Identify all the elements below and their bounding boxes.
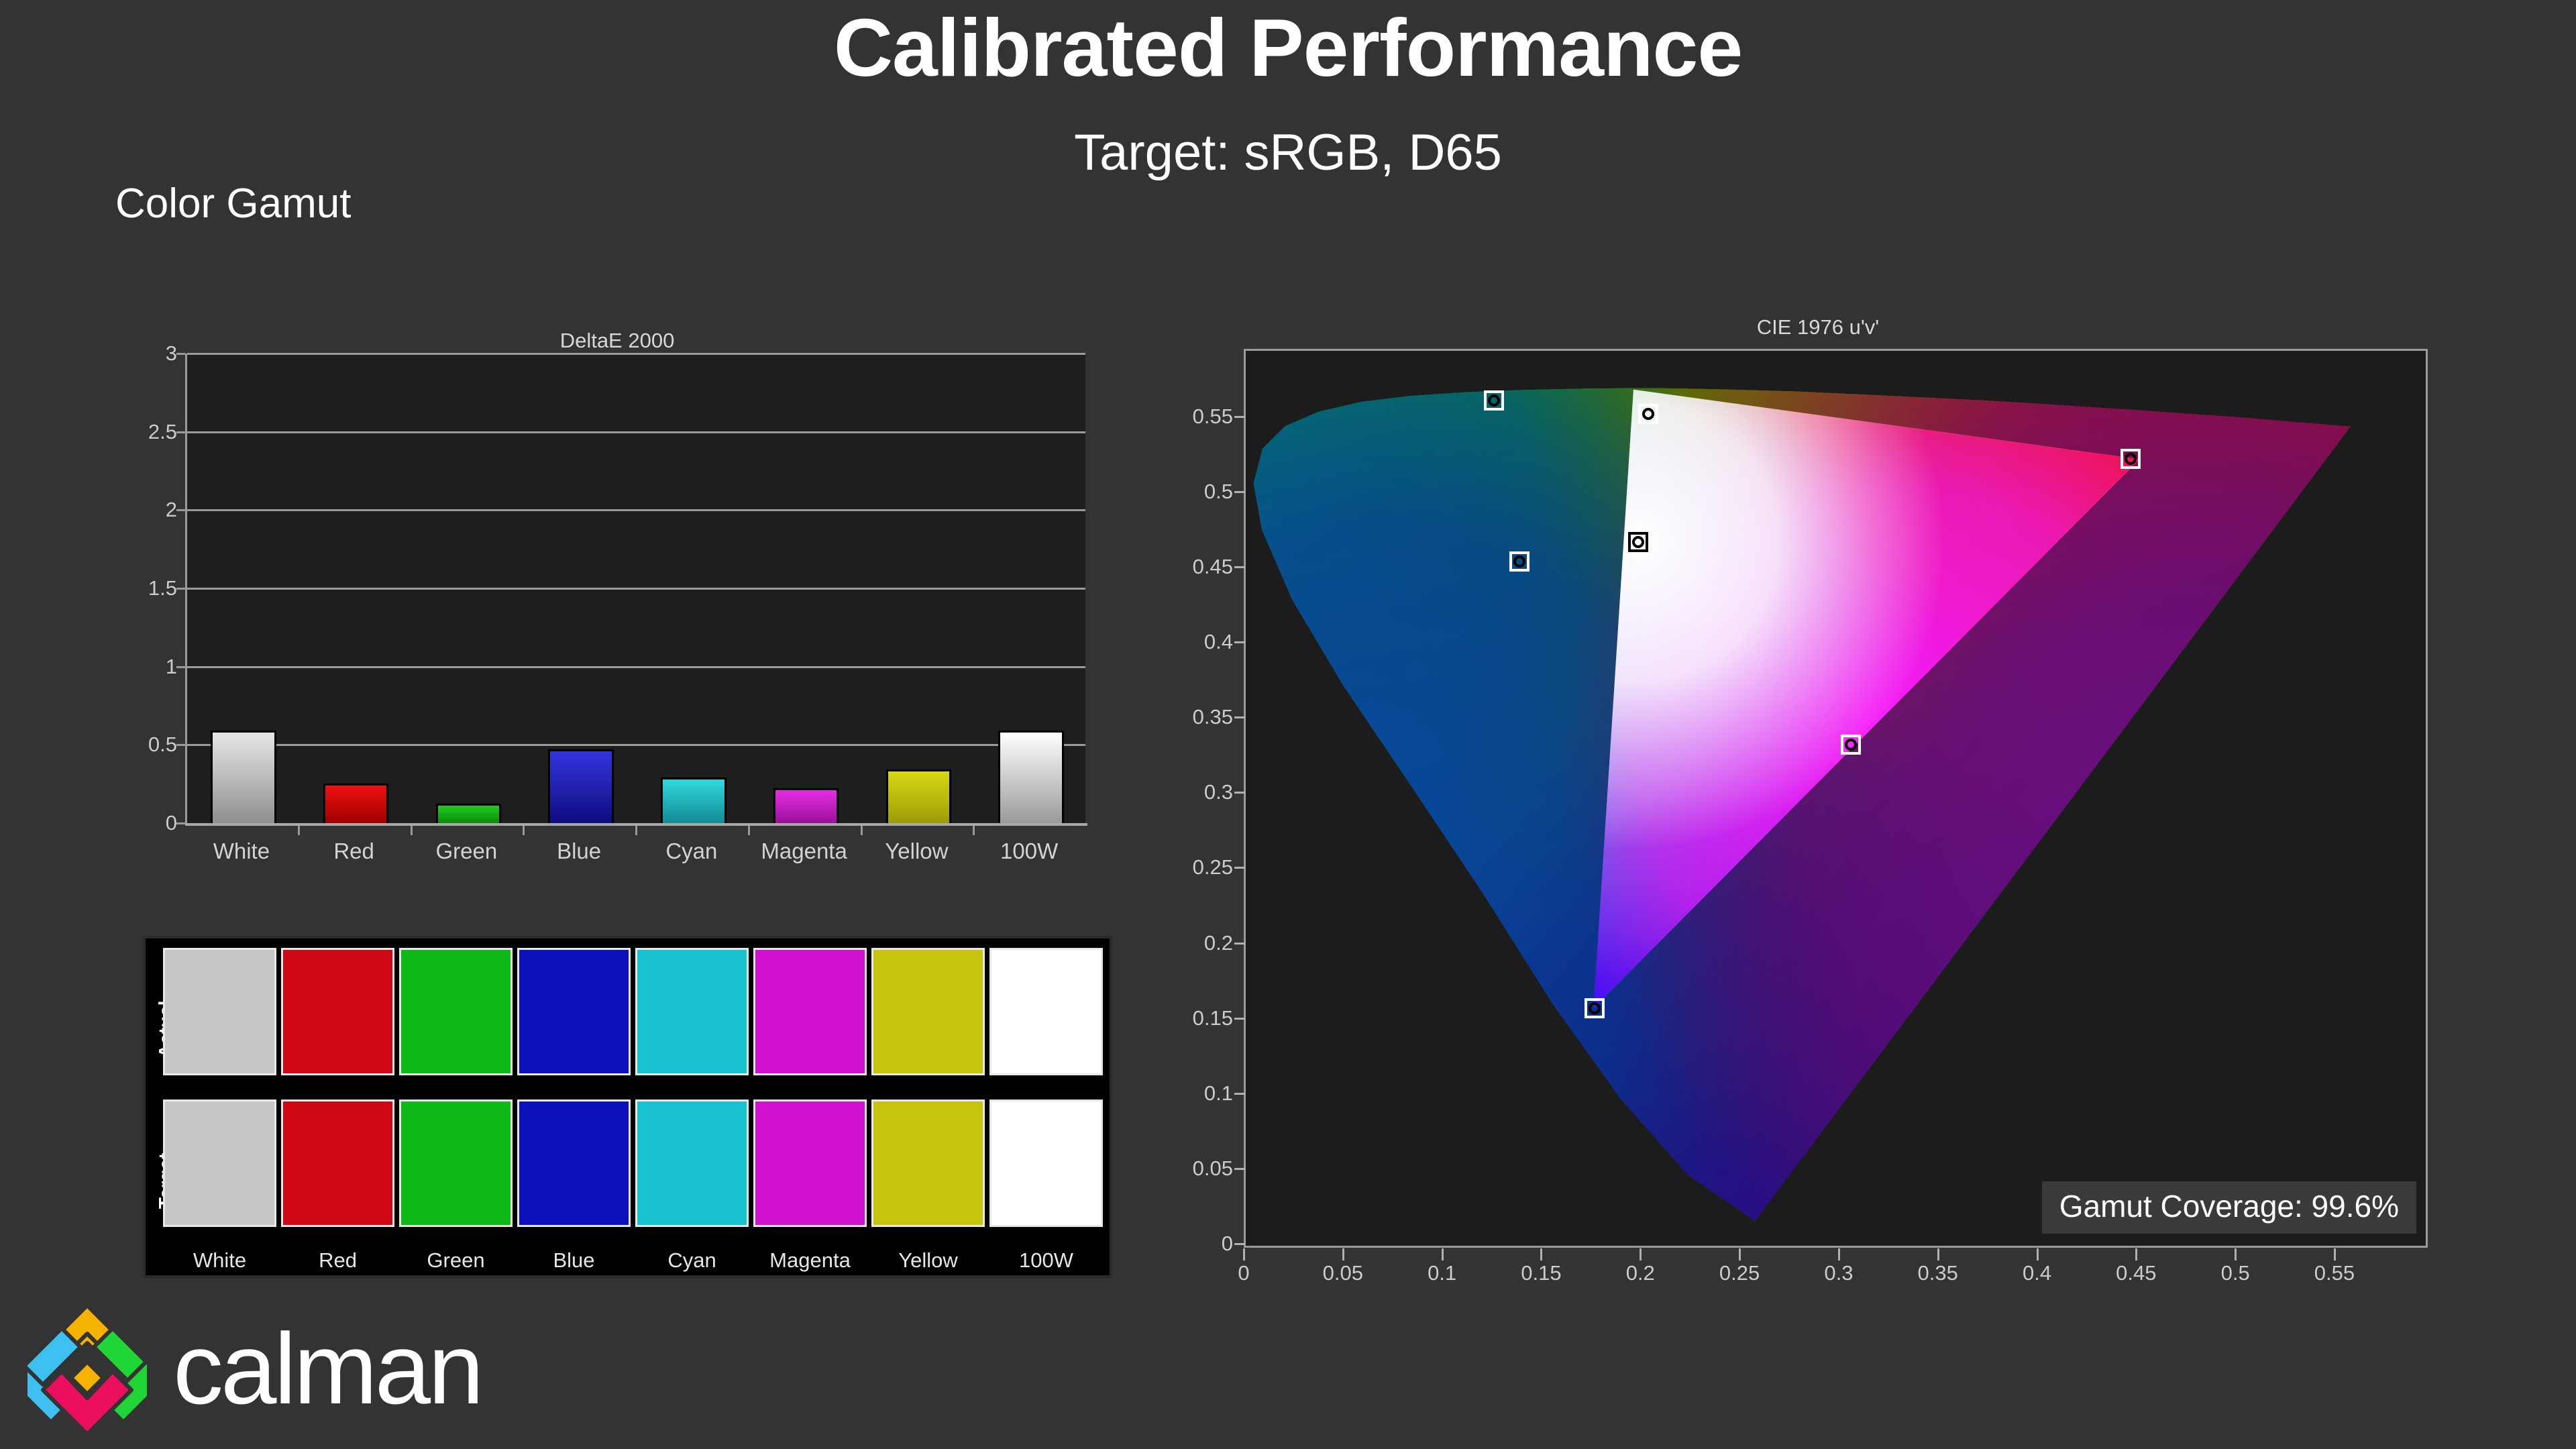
deltae-y-tick-label: 2 bbox=[134, 498, 177, 522]
cie-x-tick-label: 0.4 bbox=[2023, 1261, 2051, 1285]
cie-y-tick-label: 0.3 bbox=[1181, 780, 1233, 804]
swatch-actual bbox=[281, 948, 394, 1075]
swatch-actual bbox=[753, 948, 867, 1075]
swatch-column-label: Magenta bbox=[769, 1248, 851, 1273]
deltae-bar bbox=[998, 731, 1063, 823]
cie-marker-magenta bbox=[1841, 735, 1861, 755]
cie-y-tick-label: 0.35 bbox=[1181, 705, 1233, 729]
swatch-actual bbox=[163, 948, 276, 1075]
cie-y-tick-mark bbox=[1234, 716, 1245, 718]
deltae-x-tick-mark bbox=[861, 826, 863, 835]
cie-marker-yellow bbox=[1638, 404, 1658, 424]
cie-x-tick-label: 0.1 bbox=[1428, 1261, 1456, 1285]
gamut-coverage-badge: Gamut Coverage: 99.6% bbox=[2042, 1181, 2416, 1234]
deltae-x-tick-mark bbox=[635, 826, 637, 835]
cie-y-tick-mark bbox=[1234, 943, 1245, 945]
cie-x-tick-mark bbox=[2135, 1248, 2137, 1260]
swatch-column-label: Blue bbox=[553, 1248, 594, 1273]
cie-x-tick-mark bbox=[2334, 1248, 2336, 1260]
cie-y-tick-mark bbox=[1234, 867, 1245, 869]
swatch-target bbox=[989, 1099, 1103, 1227]
deltae-gridline bbox=[187, 744, 1085, 746]
deltae-bar bbox=[773, 788, 839, 823]
cie-y-tick-label: 0.15 bbox=[1181, 1006, 1233, 1030]
cie-y-tick-label: 0 bbox=[1181, 1232, 1233, 1256]
deltae-x-tick-mark bbox=[973, 826, 975, 835]
cie-y-tick-mark bbox=[1234, 792, 1245, 794]
cie-plot-area: Gamut Coverage: 99.6% bbox=[1244, 349, 2428, 1248]
deltae-plot-area bbox=[185, 354, 1085, 823]
deltae-bar bbox=[436, 804, 501, 823]
deltae-gridline bbox=[187, 588, 1085, 590]
cie-marker-ring bbox=[1513, 555, 1525, 568]
cie-x-tick-mark bbox=[1739, 1248, 1741, 1260]
deltae-bar bbox=[211, 731, 276, 823]
cie-chart-title: CIE 1976 u'v' bbox=[1181, 315, 2455, 339]
deltae-y-tick-label: 1.5 bbox=[134, 576, 177, 600]
cie-x-tick-label: 0.05 bbox=[1323, 1261, 1363, 1285]
calman-diamond-icon bbox=[20, 1301, 154, 1439]
swatch-column-label: White bbox=[193, 1248, 246, 1273]
cie-gamut-render bbox=[1246, 351, 2426, 1246]
cie-x-tick-mark bbox=[1640, 1248, 1642, 1260]
cie-marker-red bbox=[2121, 449, 2141, 469]
deltae-x-category-label: Blue bbox=[557, 839, 601, 864]
deltae-x-category-label: 100W bbox=[1000, 839, 1058, 864]
deltae-y-tick-mark bbox=[176, 509, 185, 511]
cie-y-tick-mark bbox=[1234, 491, 1245, 493]
deltae-y-tick-label: 0 bbox=[134, 811, 177, 835]
swatch-target bbox=[635, 1099, 749, 1227]
deltae-x-category-label: Yellow bbox=[885, 839, 948, 864]
deltae-x-tick-mark bbox=[298, 826, 300, 835]
cie-marker-ring bbox=[1589, 1002, 1601, 1014]
deltae-bar bbox=[548, 749, 613, 823]
cie-marker-cyan bbox=[1509, 551, 1529, 572]
cie-x-tick-mark bbox=[1937, 1248, 1939, 1260]
cie-y-tick-label: 0.55 bbox=[1181, 405, 1233, 429]
cie-marker-blue bbox=[1585, 998, 1605, 1018]
swatch-column-label: Red bbox=[319, 1248, 357, 1273]
cie-x-tick-label: 0.3 bbox=[1824, 1261, 1853, 1285]
calman-wordmark: calman bbox=[173, 1311, 482, 1427]
deltae-gridline bbox=[187, 431, 1085, 433]
deltae-y-tick-mark bbox=[176, 588, 185, 590]
cie-y-tick-label: 0.25 bbox=[1181, 855, 1233, 879]
cie-y-tick-mark bbox=[1234, 641, 1245, 643]
deltae-gridline bbox=[187, 509, 1085, 511]
deltae-x-category-label: Magenta bbox=[761, 839, 847, 864]
swatch-target bbox=[399, 1099, 513, 1227]
cie-marker-ring bbox=[1845, 739, 1857, 751]
cie-x-tick-label: 0.15 bbox=[1521, 1261, 1561, 1285]
swatch-target bbox=[517, 1099, 631, 1227]
cie-x-tick-mark bbox=[1540, 1248, 1542, 1260]
swatch-actual bbox=[399, 948, 513, 1075]
cie-x-tick-label: 0.35 bbox=[1918, 1261, 1958, 1285]
report-page: Calibrated Performance Target: sRGB, D65… bbox=[0, 0, 2576, 1449]
cie-marker-ring bbox=[1632, 536, 1644, 548]
cie-x-tick-mark bbox=[1243, 1248, 1245, 1260]
cie-y-tick-label: 0.1 bbox=[1181, 1081, 1233, 1106]
cie-y-tick-label: 0.2 bbox=[1181, 931, 1233, 955]
swatch-actual bbox=[517, 948, 631, 1075]
cie-x-tick-mark bbox=[1838, 1248, 1840, 1260]
swatch-target bbox=[163, 1099, 276, 1227]
cie-y-tick-label: 0.45 bbox=[1181, 555, 1233, 579]
cie-y-tick-mark bbox=[1234, 416, 1245, 418]
cie-x-tick-label: 0 bbox=[1238, 1261, 1249, 1285]
cie-y-tick-mark bbox=[1234, 1168, 1245, 1170]
deltae-x-category-label: White bbox=[213, 839, 270, 864]
swatch-comparison-panel: ActualTargetWhiteRedGreenBlueCyanMagenta… bbox=[143, 936, 1112, 1278]
deltae-bar bbox=[661, 777, 726, 823]
cie-y-tick-label: 0.5 bbox=[1181, 480, 1233, 504]
cie-y-tick-mark bbox=[1234, 1243, 1245, 1245]
deltae-y-tick-label: 3 bbox=[134, 341, 177, 366]
deltae-gridline bbox=[187, 666, 1085, 668]
cie-marker-ring bbox=[1488, 394, 1500, 407]
deltae-x-tick-mark bbox=[523, 826, 525, 835]
deltae-bar bbox=[886, 769, 951, 823]
cie-x-tick-mark bbox=[1342, 1248, 1344, 1260]
swatch-actual bbox=[871, 948, 985, 1075]
deltae-x-category-label: Green bbox=[436, 839, 498, 864]
page-subtitle: Target: sRGB, D65 bbox=[0, 127, 2576, 178]
deltae-bar-chart: DeltaE 2000 00.511.522.53WhiteRedGreenBl… bbox=[134, 329, 1100, 859]
cie-marker-ring bbox=[1642, 408, 1654, 420]
cie-y-tick-mark bbox=[1234, 566, 1245, 568]
section-label-color-gamut: Color Gamut bbox=[115, 180, 351, 227]
cie-marker-green bbox=[1484, 390, 1504, 411]
cie-x-tick-mark bbox=[1442, 1248, 1444, 1260]
swatch-target bbox=[281, 1099, 394, 1227]
deltae-chart-title: DeltaE 2000 bbox=[134, 329, 1100, 353]
deltae-gridline bbox=[187, 353, 1085, 355]
deltae-x-category-label: Cyan bbox=[665, 839, 717, 864]
deltae-y-tick-label: 1 bbox=[134, 655, 177, 679]
cie-y-tick-label: 0.05 bbox=[1181, 1157, 1233, 1181]
cie-x-tick-mark bbox=[2235, 1248, 2237, 1260]
cie-x-tick-label: 0.45 bbox=[2116, 1261, 2156, 1285]
cie-chromaticity-chart: CIE 1976 u'v' Gamut Coverage: 99. bbox=[1181, 315, 2455, 1281]
deltae-y-tick-label: 2.5 bbox=[134, 420, 177, 444]
cie-marker-ring bbox=[2125, 453, 2137, 465]
cie-x-tick-label: 0.2 bbox=[1626, 1261, 1655, 1285]
page-title: Calibrated Performance bbox=[0, 7, 2576, 89]
cie-y-tick-mark bbox=[1234, 1093, 1245, 1095]
swatch-actual bbox=[989, 948, 1103, 1075]
swatch-column-label: Yellow bbox=[898, 1248, 957, 1273]
deltae-y-tick-mark bbox=[176, 822, 185, 824]
cie-x-tick-label: 0.25 bbox=[1719, 1261, 1760, 1285]
deltae-bar bbox=[323, 784, 388, 823]
deltae-y-tick-mark bbox=[176, 744, 185, 746]
cie-x-tick-mark bbox=[2037, 1248, 2039, 1260]
deltae-y-tick-mark bbox=[176, 353, 185, 355]
calman-logo: calman bbox=[20, 1301, 664, 1442]
swatch-column-label: Cyan bbox=[667, 1248, 716, 1273]
swatch-actual bbox=[635, 948, 749, 1075]
cie-y-tick-label: 0.4 bbox=[1181, 630, 1233, 654]
cie-y-tick-mark bbox=[1234, 1018, 1245, 1020]
deltae-y-tick-mark bbox=[176, 666, 185, 668]
deltae-y-tick-mark bbox=[176, 431, 185, 433]
deltae-x-tick-mark bbox=[411, 826, 413, 835]
swatch-target bbox=[871, 1099, 985, 1227]
cie-x-tick-label: 0.5 bbox=[2221, 1261, 2250, 1285]
deltae-y-tick-label: 0.5 bbox=[134, 733, 177, 757]
swatch-target bbox=[753, 1099, 867, 1227]
cie-marker-white bbox=[1628, 532, 1648, 552]
swatch-column-label: Green bbox=[427, 1248, 484, 1273]
cie-x-tick-label: 0.55 bbox=[2314, 1261, 2355, 1285]
deltae-x-tick-mark bbox=[748, 826, 750, 835]
deltae-x-category-label: Red bbox=[333, 839, 374, 864]
swatch-column-label: 100W bbox=[1019, 1248, 1073, 1273]
